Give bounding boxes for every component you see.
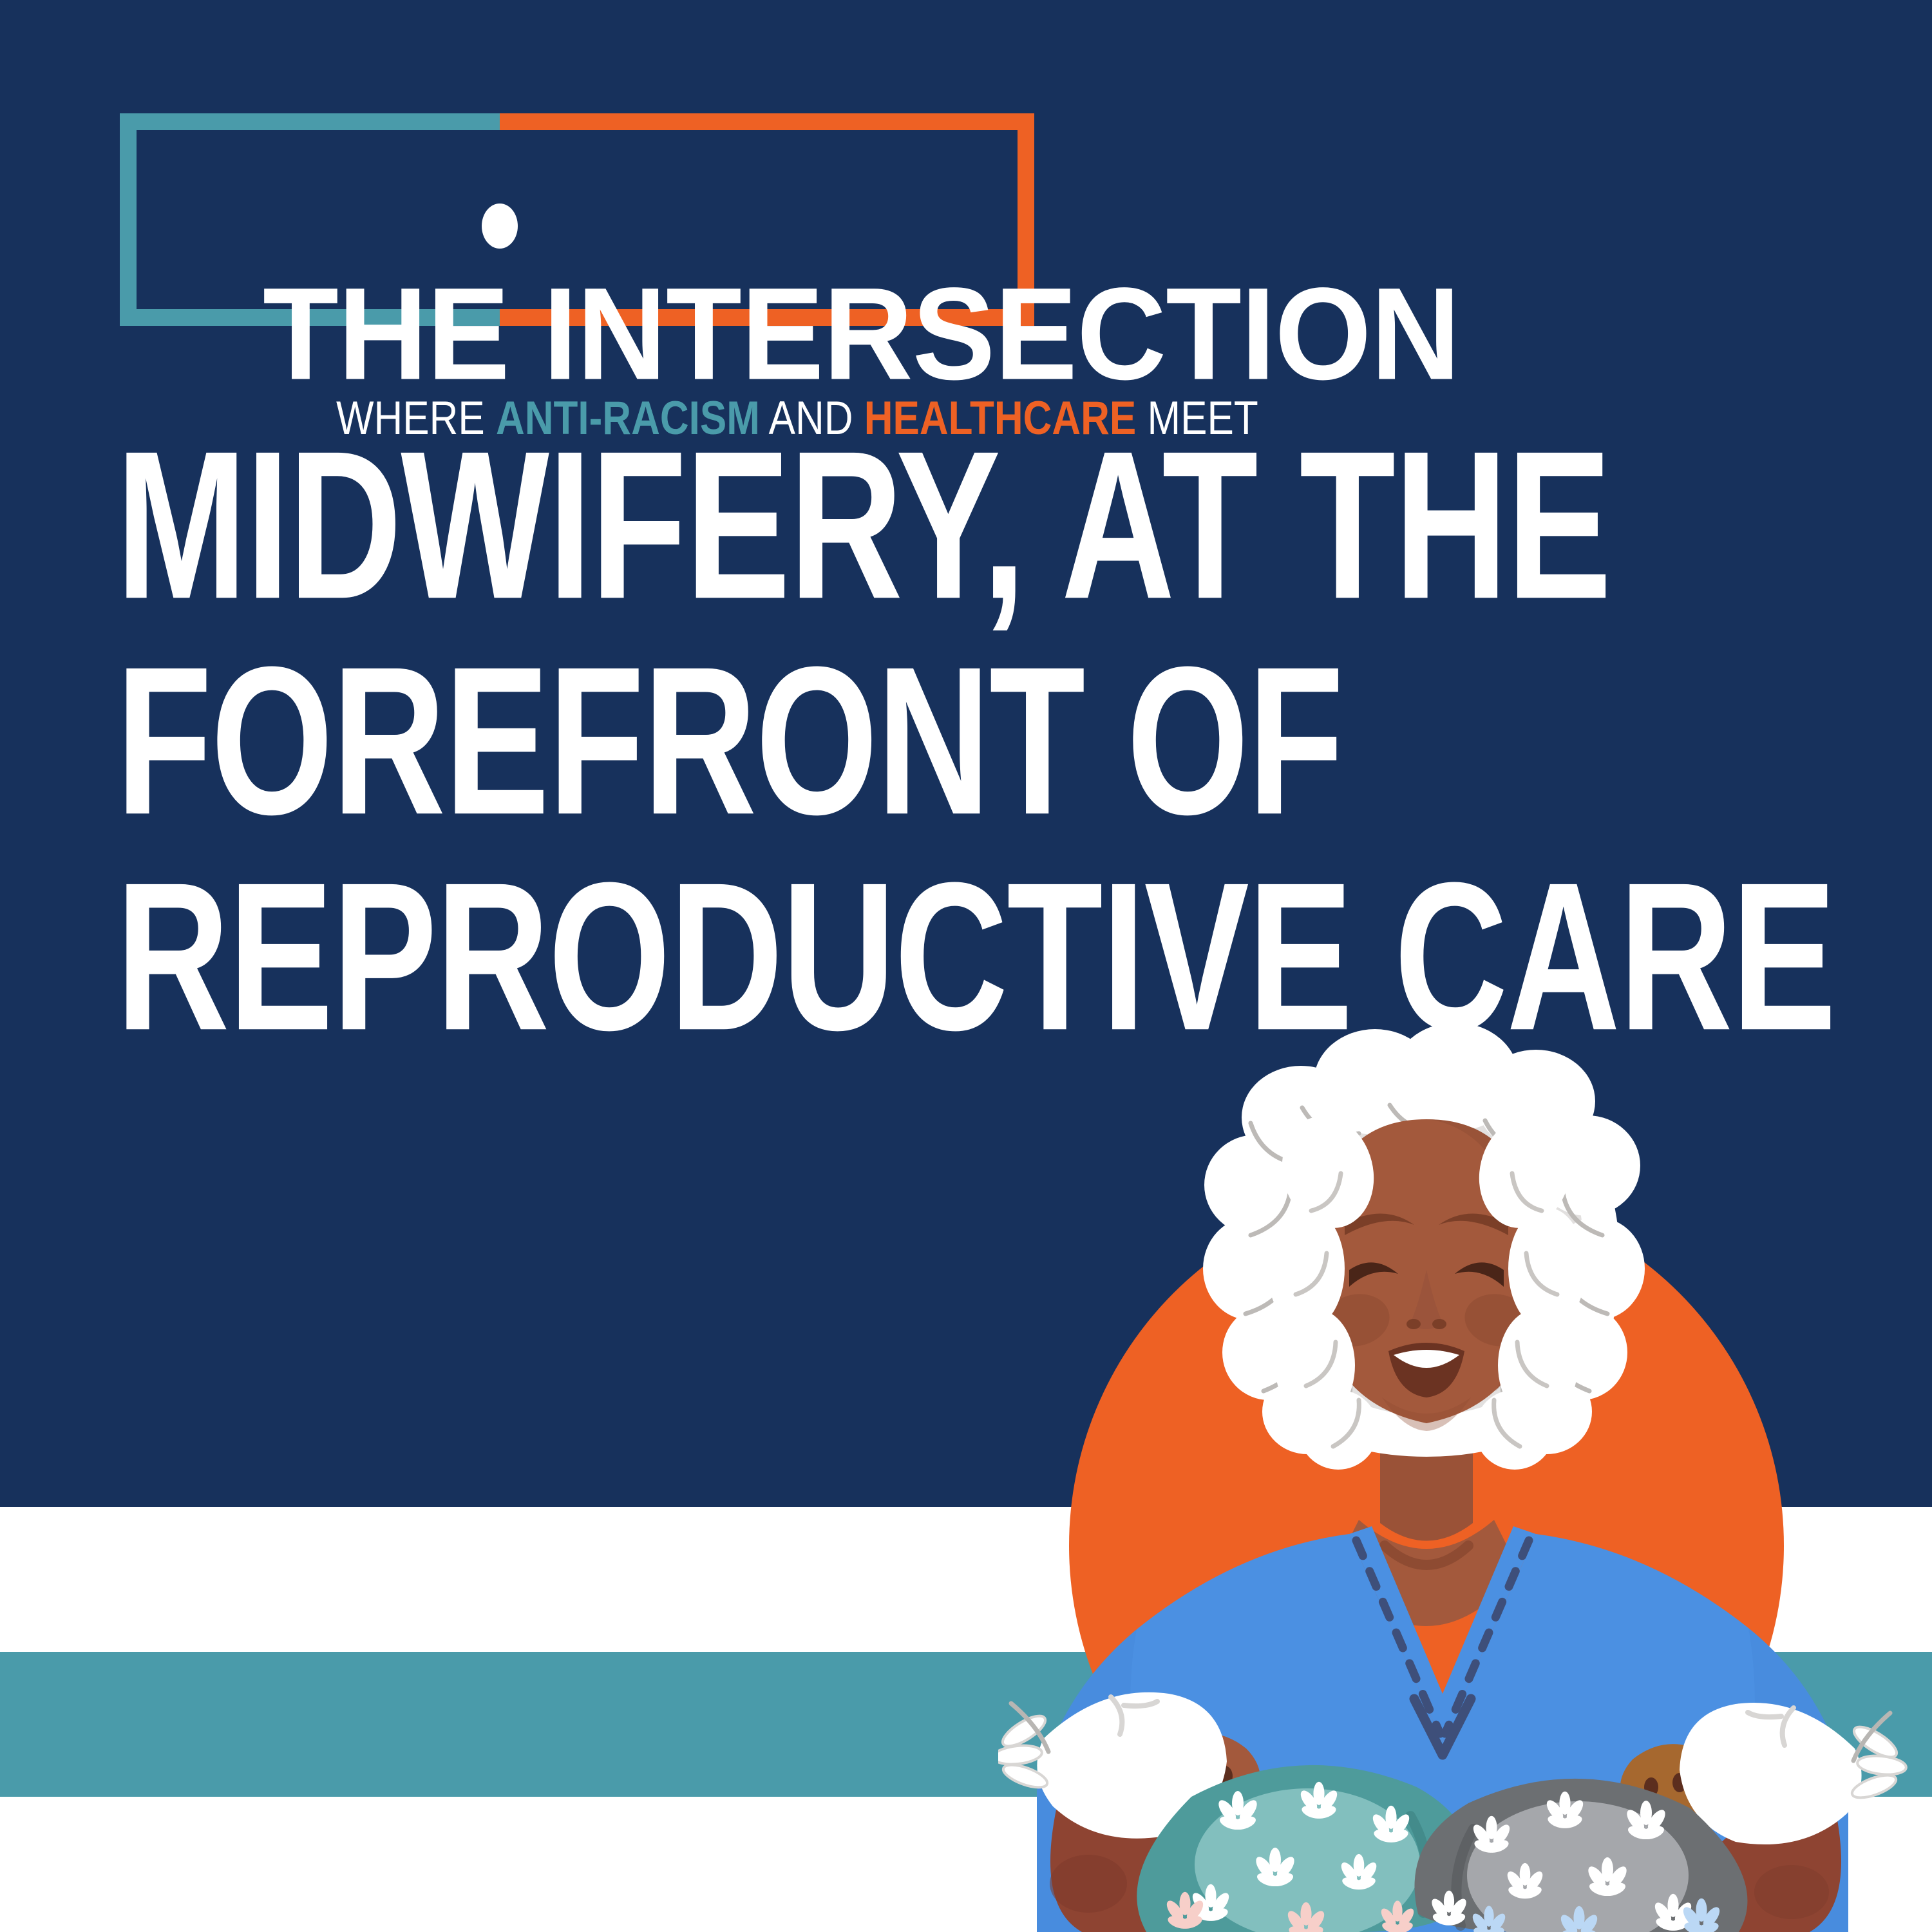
tagline-part-antiracism: ANTI-RACISM: [496, 392, 760, 444]
illustration-midwife-with-babies: [998, 979, 1932, 1932]
logo-tagline: WHERE ANTI-RACISM AND HEALTHCARE MEET: [336, 395, 1148, 442]
tagline-part-where: WHERE: [336, 392, 496, 444]
episode-title: MIDWIFERY, AT THE FOREFRONT OF REPRODUCT…: [116, 385, 1662, 1032]
tagline-part-and: AND: [760, 392, 864, 444]
tagline-part-meet: MEET: [1136, 392, 1258, 444]
brand-logo: THE INTERSECTION WHERE ANTI-RACISM AND H…: [120, 113, 1034, 332]
logo-wordmark: THE INTERSECTION: [263, 268, 1068, 399]
logo-i-dot-icon: [482, 204, 518, 249]
tagline-part-healthcare: HEALTHCARE: [864, 392, 1137, 444]
midwife-head: [1203, 1023, 1645, 1470]
podcast-cover-art: THE INTERSECTION WHERE ANTI-RACISM AND H…: [0, 0, 1932, 1932]
